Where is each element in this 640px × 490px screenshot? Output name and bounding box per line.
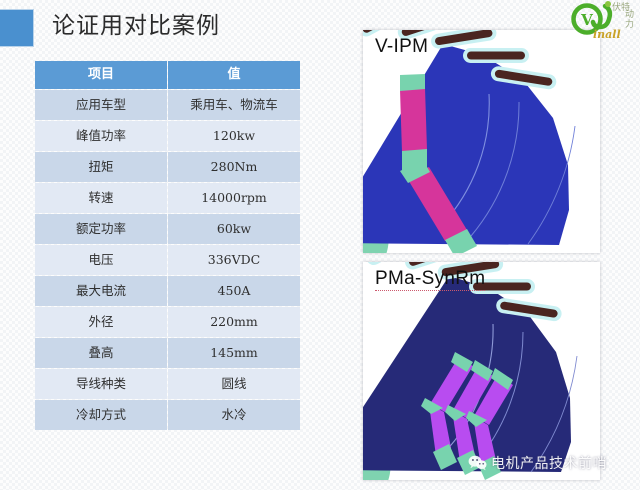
table-body: 应用车型乘用车、物流车峰值功率120kw扭矩280Nm转速14000rpm额定功… bbox=[35, 90, 300, 430]
table-header-value: 值 bbox=[168, 61, 300, 89]
logo-letter: V bbox=[580, 11, 593, 29]
table-cell-value: 145mm bbox=[168, 338, 300, 368]
table-cell-item: 应用车型 bbox=[35, 90, 167, 120]
table-row: 冷却方式水冷 bbox=[35, 400, 300, 430]
table-cell-value: 450A bbox=[168, 276, 300, 306]
v-ipm-diagram-svg bbox=[363, 30, 600, 253]
table-row: 峰值功率120kw bbox=[35, 121, 300, 151]
brand-chinese-text: 伏特 动力 bbox=[612, 1, 638, 39]
table-cell-value: 14000rpm bbox=[168, 183, 300, 213]
table-cell-item: 导线种类 bbox=[35, 369, 167, 399]
pma-synrm-diagram-svg bbox=[363, 262, 600, 480]
table-cell-item: 扭矩 bbox=[35, 152, 167, 182]
table-row: 额定功率60kw bbox=[35, 214, 300, 244]
brand-cn-col-b: 动力 bbox=[625, 10, 638, 30]
page-title: 论证用对比案例 bbox=[52, 6, 220, 40]
diagram-panel-pma-synrm: PMa-SynRm bbox=[363, 262, 600, 480]
table-cell-item: 转速 bbox=[35, 183, 167, 213]
table-row: 转速14000rpm bbox=[35, 183, 300, 213]
table-cell-value: 乘用车、物流车 bbox=[168, 90, 300, 120]
table-row: 应用车型乘用车、物流车 bbox=[35, 90, 300, 120]
table-cell-value: 圆线 bbox=[168, 369, 300, 399]
table-cell-item: 冷却方式 bbox=[35, 400, 167, 430]
table-cell-item: 电压 bbox=[35, 245, 167, 275]
table-header-item: 项目 bbox=[35, 61, 167, 89]
table-cell-value: 120kw bbox=[168, 121, 300, 151]
specification-table: 项目 值 应用车型乘用车、物流车峰值功率120kw扭矩280Nm转速14000r… bbox=[34, 60, 301, 431]
diagram-panel-v-ipm: V-IPM bbox=[363, 30, 600, 253]
diagram-label-pma-synrm: PMa-SynRm bbox=[375, 268, 485, 291]
title-accent-square bbox=[0, 9, 34, 47]
table-row: 叠高145mm bbox=[35, 338, 300, 368]
table-cell-value: 280Nm bbox=[168, 152, 300, 182]
diagram-label-v-ipm: V-IPM bbox=[375, 36, 428, 58]
table-header-row: 项目 值 bbox=[35, 61, 300, 89]
table-row: 导线种类圆线 bbox=[35, 369, 300, 399]
slide-canvas: 论证用对比案例 项目 值 应用车型乘用车、物流车峰值功率120kw扭矩280Nm… bbox=[0, 0, 640, 490]
table-row: 电压336VDC bbox=[35, 245, 300, 275]
table-row: 扭矩280Nm bbox=[35, 152, 300, 182]
table-cell-value: 220mm bbox=[168, 307, 300, 337]
table-cell-item: 峰值功率 bbox=[35, 121, 167, 151]
table-cell-item: 最大电流 bbox=[35, 276, 167, 306]
table-row: 外径220mm bbox=[35, 307, 300, 337]
table-cell-value: 336VDC bbox=[168, 245, 300, 275]
table-cell-item: 叠高 bbox=[35, 338, 167, 368]
table-cell-item: 外径 bbox=[35, 307, 167, 337]
table-cell-value: 60kw bbox=[168, 214, 300, 244]
table-row: 最大电流450A bbox=[35, 276, 300, 306]
table-cell-value: 水冷 bbox=[168, 400, 300, 430]
table-cell-item: 额定功率 bbox=[35, 214, 167, 244]
